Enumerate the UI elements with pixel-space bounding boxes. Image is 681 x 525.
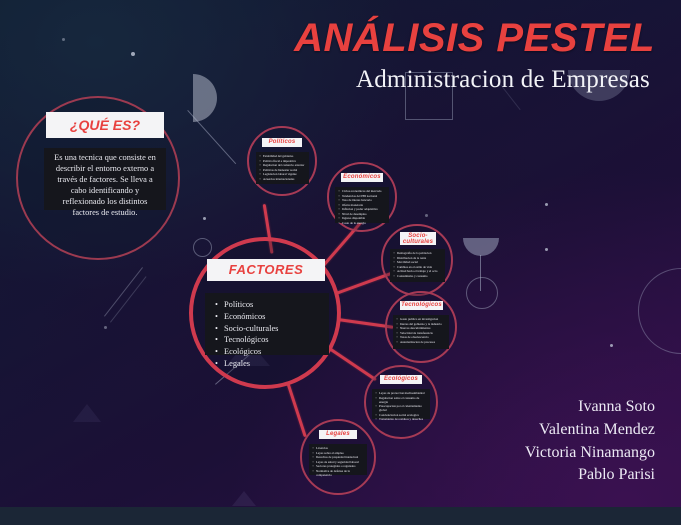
what-is-label: ¿QUÉ ES?	[46, 112, 164, 138]
authors-list: Ivanna Soto Valentina Mendez Victoria Ni…	[525, 396, 655, 487]
list-item: Gasto publico en investigacion	[400, 317, 446, 321]
author-name: Pablo Parisi	[525, 464, 655, 487]
list-item: Demografia de la poblacion	[397, 251, 442, 255]
list-item: Tasa de interes bancaria	[342, 198, 386, 202]
list-item: Costo de la energia	[342, 221, 386, 225]
list-item: Consumismo y consumo	[397, 274, 442, 278]
node-label-politicos: Políticos	[262, 138, 302, 147]
list-item: Movilidad social	[397, 260, 442, 264]
node-body-socioculturales: Demografia de la poblacion Distribucion …	[390, 249, 445, 282]
cup-ring-decoration	[466, 277, 498, 309]
list-item: Politicas de bienestar social	[263, 168, 306, 172]
list-item: Velocidad de transferencia	[400, 331, 446, 335]
list-item: Legislacion laboral vigente	[263, 172, 306, 176]
node-label-ecologicos: Ecológicos	[380, 375, 422, 384]
list-item: Leyes de proteccion medioambiental	[379, 391, 427, 395]
list-item: Leyes sobre el empleo	[316, 451, 364, 455]
node-label-legales: Legales	[319, 430, 357, 439]
list-item: Regulacion sobre el consumo de energia	[379, 396, 427, 404]
list-item: Oferta monetaria	[342, 203, 386, 207]
dot-decoration	[104, 326, 107, 329]
triangle-decoration	[232, 491, 256, 506]
list-item: Cambios en el estilo de vida	[397, 265, 442, 269]
author-name: Ivanna Soto	[525, 396, 655, 419]
factores-list: Políticos Económicos Socio-culturales Te…	[213, 299, 321, 370]
page-subtitle: Administracion de Empresas	[0, 66, 650, 94]
list-item: Inflacion y poder adquisitivo	[342, 207, 386, 211]
list-item: Tasas de obsolescencia	[400, 335, 446, 339]
diagonal-line-decoration	[104, 267, 143, 316]
list-item: Tecnológicos	[224, 334, 321, 346]
node-list-economicos: Ciclos economicos del mercado Tendencias…	[338, 189, 386, 225]
list-item: Ecológicos	[224, 346, 321, 358]
list-item: Interes del gobierno y la industria	[400, 322, 446, 326]
list-item: Ingreso disponible	[342, 216, 386, 220]
factores-label: FACTORES	[207, 259, 325, 281]
list-item: Licencias	[316, 446, 364, 450]
dot-decoration	[545, 203, 548, 206]
node-list-tecnologicos: Gasto publico en investigacion Interes d…	[396, 317, 446, 344]
connector-line-ecologicos	[327, 346, 377, 381]
list-item: Regulacion del comercio exterior	[263, 163, 306, 167]
list-item: Sectores protegidos o regulados	[316, 464, 364, 468]
list-item: Económicos	[224, 311, 321, 323]
list-item: Socio-culturales	[224, 323, 321, 335]
list-item: Distribucion de la renta	[397, 256, 442, 260]
diagonal-line-decoration	[187, 110, 236, 164]
list-item: Estabilidad del gobierno	[263, 154, 306, 158]
list-item: Normativa de defensa de la competencia	[316, 469, 364, 477]
author-name: Victoria Ninamango	[525, 442, 655, 465]
node-label-tecnologicos: Tecnológicos	[400, 301, 443, 310]
node-list-ecologicos: Leyes de proteccion medioambiental Regul…	[375, 391, 427, 421]
connector-line-legales	[287, 383, 307, 437]
list-item: Preocupacion por el calentamiento global	[379, 404, 427, 412]
circle-outline-decoration	[638, 268, 681, 354]
page-title: ANÁLISIS PESTEL	[0, 16, 655, 61]
node-list-legales: Licencias Leyes sobre el empleo Derechos…	[312, 446, 364, 477]
dot-decoration	[545, 248, 548, 251]
presentation-slide: ANÁLISIS PESTEL Administracion de Empres…	[0, 0, 681, 525]
list-item: Legales	[224, 358, 321, 370]
dot-decoration	[203, 217, 206, 220]
dot-decoration	[610, 344, 613, 347]
list-item: Politica fiscal e impositiva	[263, 159, 306, 163]
list-item: Derechos de propiedad intelectual	[316, 455, 364, 459]
node-label-socioculturales: Socio-culturales	[400, 232, 436, 245]
triangle-decoration	[73, 404, 101, 422]
list-item: Leyes de salud y seguridad laboral	[316, 460, 364, 464]
list-item: Tratamiento de residuos y desechos	[379, 417, 427, 421]
node-label-economicos: Económicos	[341, 173, 383, 182]
list-item: Acuerdos internacionales	[263, 177, 306, 181]
author-name: Valentina Mendez	[525, 419, 655, 442]
node-body-legales: Licencias Leyes sobre el empleo Derechos…	[309, 444, 367, 475]
node-list-politicos: Estabilidad del gobierno Politica fiscal…	[259, 154, 306, 181]
node-body-tecnologicos: Gasto publico en investigacion Interes d…	[393, 315, 449, 349]
list-item: Nuevos descubrimientos	[400, 326, 446, 330]
node-body-economicos: Ciclos economicos del mercado Tendencias…	[335, 187, 389, 223]
list-item: Ciclos economicos del mercado	[342, 189, 386, 193]
dot-decoration	[425, 214, 428, 217]
circle-outline-decoration	[193, 238, 212, 257]
node-body-politicos: Estabilidad del gobierno Politica fiscal…	[256, 152, 309, 184]
list-item: Tendencias del PBI nacional	[342, 194, 386, 198]
bottom-band-decoration	[0, 507, 681, 525]
node-body-ecologicos: Leyes de proteccion medioambiental Regul…	[372, 389, 430, 419]
list-item: Políticos	[224, 299, 321, 311]
list-item: Automatizacion de procesos	[400, 340, 446, 344]
node-list-socioculturales: Demografia de la poblacion Distribucion …	[393, 251, 442, 278]
cup-shape-decoration	[463, 238, 499, 256]
list-item: Actitud hacia el trabajo y el ocio	[397, 269, 442, 273]
factores-list-panel: Políticos Económicos Socio-culturales Te…	[205, 293, 329, 355]
list-item: Concienciacion social ecologica	[379, 413, 427, 417]
list-item: Nivel de desempleo	[342, 212, 386, 216]
what-is-body: Es una tecnica que consiste en describir…	[44, 148, 166, 210]
